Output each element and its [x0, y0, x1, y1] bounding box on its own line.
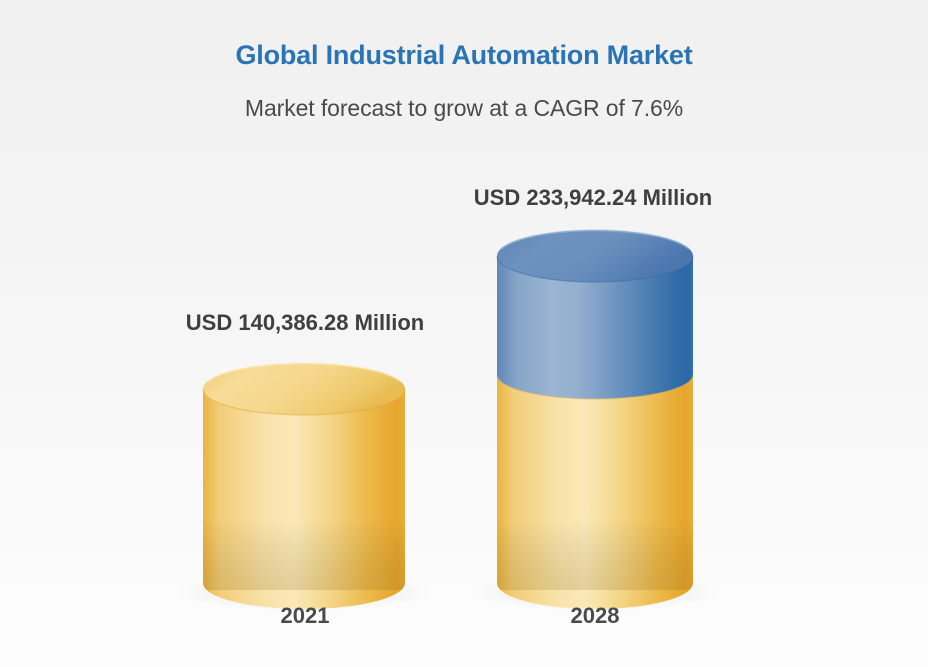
category-label-2028: 2028: [495, 603, 695, 629]
value-label-2028: USD 233,942.24 Million: [440, 185, 746, 211]
chart-container: Global Industrial Automation Market Mark…: [0, 0, 928, 667]
cylinder-2028-bottom-shade: [497, 520, 693, 590]
cylinder-2021: [203, 363, 405, 609]
category-label-2021: 2021: [205, 603, 405, 629]
value-label-2021: USD 140,386.28 Million: [152, 310, 458, 336]
cylinder-2021-bottom-shade: [203, 520, 405, 590]
cylinder-graphics: [0, 0, 928, 667]
cylinder-2028: [497, 230, 693, 609]
plot-area: USD 140,386.28 Million USD 233,942.24 Mi…: [0, 0, 928, 667]
